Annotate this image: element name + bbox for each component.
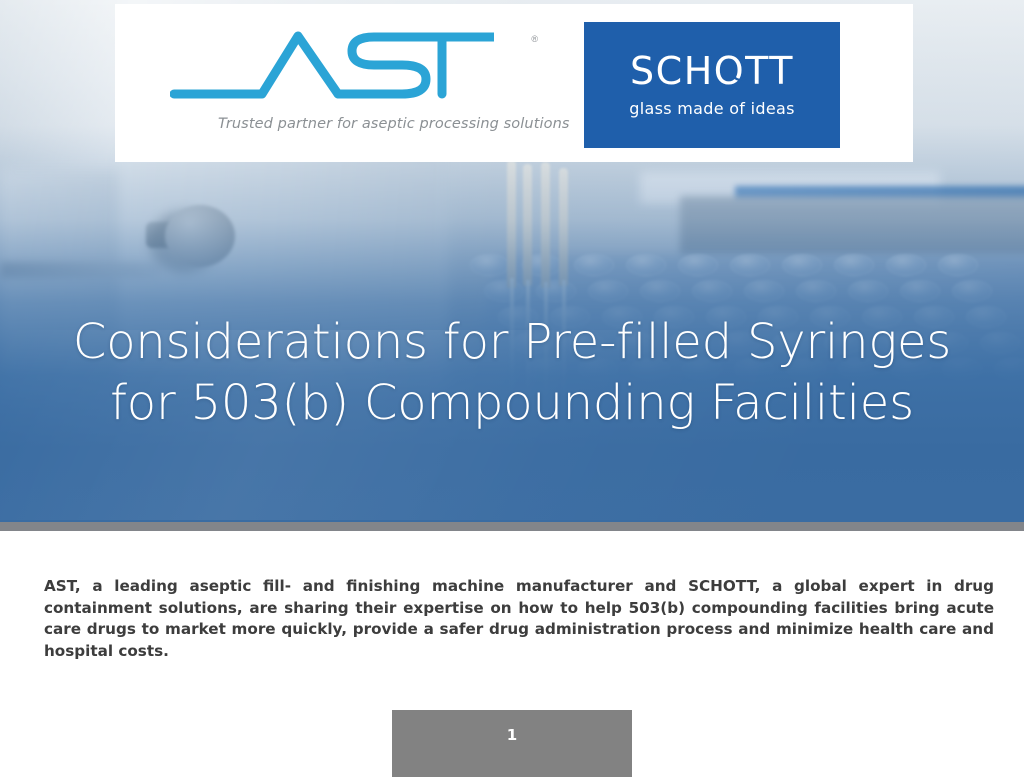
presentation-slide: ® Trusted partner for aseptic processing… [0,0,1024,777]
logo-band: ® Trusted partner for aseptic processing… [115,4,913,162]
page-number: 1 [507,726,517,744]
schott-logo: SCHOTT glass made of ideas [584,22,840,148]
slide-title-line-2: for 503(b) Compounding Facilities [0,373,1024,434]
ast-logo-icon [170,24,500,104]
slide-title: Considerations for Pre-filled Syringes f… [0,312,1024,435]
schott-tagline: glass made of ideas [629,99,794,118]
ast-logo: ® Trusted partner for aseptic processing… [170,24,530,144]
registered-trademark-icon: ® [531,34,538,44]
hero-banner: ® Trusted partner for aseptic processing… [0,0,1024,522]
ast-tagline: Trusted partner for aseptic processing s… [218,116,518,132]
page-number-box: 1 [392,710,632,777]
schott-wordmark: SCHOTT [630,52,794,90]
slide-title-line-1: Considerations for Pre-filled Syringes [0,312,1024,373]
section-divider [0,522,1024,531]
schott-wordmark-text: SCHOTT [630,49,794,93]
body-paragraph: AST, a leading aseptic fill- and finishi… [44,576,994,662]
